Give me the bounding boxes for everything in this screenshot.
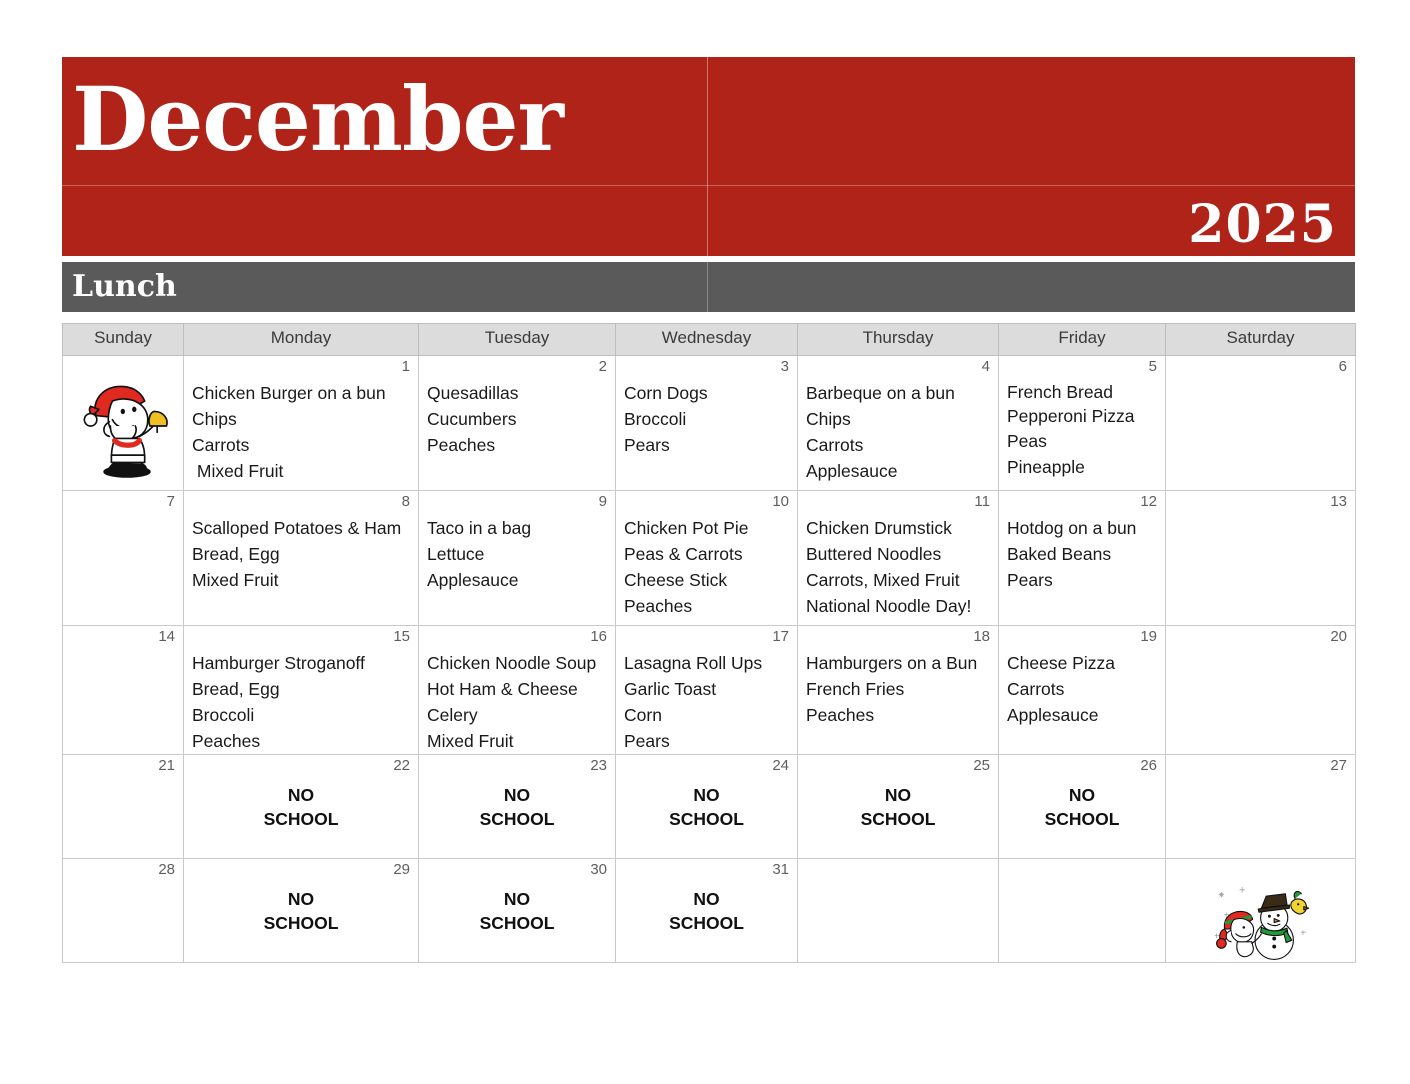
day-cell-content: 12Hotdog on a bunBaked BeansPears: [999, 491, 1165, 625]
menu-item: Cucumbers: [427, 406, 615, 432]
day-cell-content: 13: [1166, 491, 1355, 625]
calendar-day-cell-monday-8[interactable]: 8Scalloped Potatoes & HamBread, EggMixed…: [184, 491, 419, 626]
menu-item: Mixed Fruit: [192, 567, 418, 593]
day-number: 15: [393, 628, 410, 646]
day-cell-content: 20: [1166, 626, 1355, 754]
menu-item: Buttered Noodles: [806, 541, 998, 567]
calendar-week-row: 2829NOSCHOOL30NOSCHOOL31NOSCHOOL: [63, 859, 1356, 963]
menu-item-list: Corn DogsBroccoliPears: [616, 356, 797, 458]
menu-item: French Bread: [1007, 380, 1165, 404]
day-cell-content: 16Chicken Noodle SoupHot Ham & CheeseCel…: [419, 626, 615, 754]
weekday-header-thursday: Thursday: [798, 324, 999, 356]
menu-item-list: Scalloped Potatoes & HamBread, EggMixed …: [184, 491, 418, 593]
menu-item: Cheese Stick: [624, 567, 797, 593]
menu-item: French Fries: [806, 676, 998, 702]
day-number: 12: [1140, 493, 1157, 511]
calendar-week-row: 78Scalloped Potatoes & HamBread, EggMixe…: [63, 491, 1356, 626]
menu-item: Hot Ham & Cheese: [427, 676, 615, 702]
day-number: 2: [599, 358, 607, 376]
menu-item: Applesauce: [427, 567, 615, 593]
weekday-header-sunday: Sunday: [63, 324, 184, 356]
day-cell-content: 6: [1166, 356, 1355, 490]
menu-item: Garlic Toast: [624, 676, 797, 702]
menu-item: Celery: [427, 702, 615, 728]
weekday-header-monday: Monday: [184, 324, 419, 356]
no-school-note: NOSCHOOL: [419, 755, 615, 831]
calendar-day-cell-thursday-empty[interactable]: [798, 859, 999, 963]
day-number: 28: [158, 861, 175, 879]
calendar-day-cell-tuesday-9[interactable]: 9Taco in a bagLettuceApplesauce: [419, 491, 616, 626]
menu-item: National Noodle Day!: [806, 593, 998, 619]
calendar-day-cell-saturday-20[interactable]: 20: [1166, 626, 1356, 755]
menu-item: Pineapple: [1007, 454, 1165, 480]
banner-horizontal-divider: [62, 185, 1355, 186]
day-cell-content: 7: [63, 491, 183, 625]
meal-band-vertical-divider: [707, 262, 708, 312]
menu-item: Mixed Fruit: [427, 728, 615, 754]
menu-item: Mixed Fruit: [192, 458, 418, 484]
menu-item-list: Hamburgers on a BunFrench FriesPeaches: [798, 626, 998, 728]
no-school-line: SCHOOL: [616, 911, 797, 935]
no-school-note: NOSCHOOL: [184, 859, 418, 935]
day-number: 17: [772, 628, 789, 646]
no-school-line: NO: [184, 887, 418, 911]
calendar-day-cell-wednesday-24[interactable]: 24NOSCHOOL: [616, 755, 798, 859]
calendar-day-cell-friday-5[interactable]: 5French BreadPepperoni PizzaPeasPineappl…: [999, 356, 1166, 491]
menu-item: Baked Beans: [1007, 541, 1165, 567]
menu-item-list: Chicken Burger on a bunChipsCarrots Mixe…: [184, 356, 418, 484]
day-number: 25: [973, 757, 990, 775]
menu-item: Lettuce: [427, 541, 615, 567]
calendar-day-cell-friday-19[interactable]: 19Cheese PizzaCarrotsApplesauce: [999, 626, 1166, 755]
calendar-day-cell-tuesday-23[interactable]: 23NOSCHOOL: [419, 755, 616, 859]
santa-snoopy-clipart: [75, 374, 179, 478]
calendar-day-cell-wednesday-31[interactable]: 31NOSCHOOL: [616, 859, 798, 963]
day-number: 6: [1339, 358, 1347, 376]
menu-item: Carrots: [806, 432, 998, 458]
menu-item: Scalloped Potatoes & Ham: [192, 515, 418, 541]
month-banner: December 2025: [62, 57, 1355, 256]
calendar-day-cell-thursday-18[interactable]: 18Hamburgers on a BunFrench FriesPeaches: [798, 626, 999, 755]
menu-item: Peas & Carrots: [624, 541, 797, 567]
calendar-week-row: 1415Hamburger StroganoffBread, EggBrocco…: [63, 626, 1356, 755]
calendar-day-cell-friday-26[interactable]: 26NOSCHOOL: [999, 755, 1166, 859]
no-school-line: SCHOOL: [184, 807, 418, 831]
day-cell-content: 24NOSCHOOL: [616, 755, 797, 858]
calendar-day-cell-thursday-25[interactable]: 25NOSCHOOL: [798, 755, 999, 859]
no-school-line: SCHOOL: [798, 807, 998, 831]
menu-item: Carrots, Mixed Fruit: [806, 567, 998, 593]
calendar-body: 1Chicken Burger on a bunChipsCarrots Mix…: [63, 356, 1356, 963]
calendar-day-cell-monday-1[interactable]: 1Chicken Burger on a bunChipsCarrots Mix…: [184, 356, 419, 491]
menu-item: Pepperoni Pizza: [1007, 404, 1165, 428]
menu-item-list: Chicken Pot PiePeas & CarrotsCheese Stic…: [616, 491, 797, 619]
menu-item: Pears: [624, 432, 797, 458]
day-number: 23: [590, 757, 607, 775]
year-label: 2025: [1188, 197, 1337, 253]
day-number: 27: [1330, 757, 1347, 775]
menu-item: Bread, Egg: [192, 676, 418, 702]
day-number: 31: [772, 861, 789, 879]
no-school-line: NO: [184, 783, 418, 807]
calendar-day-cell-sunday-28[interactable]: 28: [63, 859, 184, 963]
menu-item: Cheese Pizza: [1007, 650, 1165, 676]
menu-item: Peaches: [806, 702, 998, 728]
no-school-line: NO: [798, 783, 998, 807]
calendar-day-cell-friday-empty[interactable]: [999, 859, 1166, 963]
day-number: 20: [1330, 628, 1347, 646]
calendar-day-cell-sunday-21[interactable]: 21: [63, 755, 184, 859]
weekday-header-wednesday: Wednesday: [616, 324, 798, 356]
calendar-day-cell-friday-12[interactable]: 12Hotdog on a bunBaked BeansPears: [999, 491, 1166, 626]
calendar-page: December 2025 Lunch Sunday Monday Tuesda…: [0, 0, 1410, 1084]
calendar-day-cell-saturday-6[interactable]: 6: [1166, 356, 1356, 491]
no-school-line: SCHOOL: [419, 911, 615, 935]
day-cell-content: [1166, 859, 1355, 962]
day-number: 14: [158, 628, 175, 646]
calendar-day-cell-sunday-14[interactable]: 14: [63, 626, 184, 755]
menu-item: Hamburger Stroganoff: [192, 650, 418, 676]
no-school-note: NOSCHOOL: [616, 859, 797, 935]
menu-item: Chicken Noodle Soup: [427, 650, 615, 676]
day-cell-content: 9Taco in a bagLettuceApplesauce: [419, 491, 615, 625]
day-number: 29: [393, 861, 410, 879]
menu-item-list: Lasagna Roll UpsGarlic ToastCornPears: [616, 626, 797, 754]
weekday-header-row: Sunday Monday Tuesday Wednesday Thursday…: [63, 324, 1356, 356]
calendar-day-cell-wednesday-10[interactable]: 10Chicken Pot PiePeas & CarrotsCheese St…: [616, 491, 798, 626]
day-cell-content: 5French BreadPepperoni PizzaPeasPineappl…: [999, 356, 1165, 490]
calendar-day-cell-saturday-13[interactable]: 13: [1166, 491, 1356, 626]
no-school-line: NO: [616, 887, 797, 911]
menu-item: Broccoli: [192, 702, 418, 728]
calendar-day-cell-sunday-7[interactable]: 7: [63, 491, 184, 626]
day-number: 30: [590, 861, 607, 879]
no-school-line: NO: [419, 887, 615, 911]
menu-item: Chips: [192, 406, 418, 432]
day-number: 9: [599, 493, 607, 511]
weekday-header-tuesday: Tuesday: [419, 324, 616, 356]
day-cell-content: 27: [1166, 755, 1355, 858]
calendar-day-cell-thursday-11[interactable]: 11Chicken DrumstickButtered NoodlesCarro…: [798, 491, 999, 626]
day-cell-content: [63, 356, 183, 490]
day-number: 18: [973, 628, 990, 646]
calendar-day-cell-tuesday-16[interactable]: 16Chicken Noodle SoupHot Ham & CheeseCel…: [419, 626, 616, 755]
menu-item-list: French BreadPepperoni PizzaPeasPineapple: [999, 356, 1165, 480]
no-school-line: SCHOOL: [184, 911, 418, 935]
menu-item: Pears: [624, 728, 797, 754]
day-cell-content: 17Lasagna Roll UpsGarlic ToastCornPears: [616, 626, 797, 754]
day-number: 7: [167, 493, 175, 511]
day-cell-content: 4Barbeque on a bunChipsCarrotsApplesauce: [798, 356, 998, 490]
day-cell-content: 2QuesadillasCucumbersPeaches: [419, 356, 615, 490]
day-number: 19: [1140, 628, 1157, 646]
menu-item: Taco in a bag: [427, 515, 615, 541]
day-cell-content: 28: [63, 859, 183, 962]
calendar-day-cell-wednesday-17[interactable]: 17Lasagna Roll UpsGarlic ToastCornPears: [616, 626, 798, 755]
menu-item: Hamburgers on a Bun: [806, 650, 998, 676]
no-school-note: NOSCHOOL: [184, 755, 418, 831]
day-cell-content: 23NOSCHOOL: [419, 755, 615, 858]
no-school-line: NO: [419, 783, 615, 807]
calendar-day-cell-tuesday-30[interactable]: 30NOSCHOOL: [419, 859, 616, 963]
calendar-day-cell-saturday-27[interactable]: 27: [1166, 755, 1356, 859]
day-cell-content: 14: [63, 626, 183, 754]
menu-item-list: Barbeque on a bunChipsCarrotsApplesauce: [798, 356, 998, 484]
page-title: December: [72, 71, 563, 167]
day-cell-content: 19Cheese PizzaCarrotsApplesauce: [999, 626, 1165, 754]
no-school-line: SCHOOL: [616, 807, 797, 831]
day-cell-content: 25NOSCHOOL: [798, 755, 998, 858]
day-cell-content: 8Scalloped Potatoes & HamBread, EggMixed…: [184, 491, 418, 625]
menu-item: Applesauce: [1007, 702, 1165, 728]
calendar-day-cell-sunday-empty[interactable]: [63, 356, 184, 491]
menu-item: Applesauce: [806, 458, 998, 484]
no-school-line: SCHOOL: [419, 807, 615, 831]
day-cell-content: 29NOSCHOOL: [184, 859, 418, 962]
calendar-day-cell-monday-15[interactable]: 15Hamburger StroganoffBread, EggBroccoli…: [184, 626, 419, 755]
no-school-note: NOSCHOOL: [419, 859, 615, 935]
menu-item: Peaches: [624, 593, 797, 619]
calendar-week-row: 2122NOSCHOOL23NOSCHOOL24NOSCHOOL25NOSCHO…: [63, 755, 1356, 859]
menu-item-list: QuesadillasCucumbersPeaches: [419, 356, 615, 458]
day-number: 3: [781, 358, 789, 376]
menu-item: Chicken Burger on a bun: [192, 380, 418, 406]
day-number: 1: [402, 358, 410, 376]
weekday-header-saturday: Saturday: [1166, 324, 1356, 356]
day-cell-content: 18Hamburgers on a BunFrench FriesPeaches: [798, 626, 998, 754]
day-cell-content: 3Corn DogsBroccoliPears: [616, 356, 797, 490]
day-number: 4: [982, 358, 990, 376]
day-number: 16: [590, 628, 607, 646]
menu-item: Chicken Drumstick: [806, 515, 998, 541]
no-school-line: NO: [999, 783, 1165, 807]
no-school-note: NOSCHOOL: [616, 755, 797, 831]
day-cell-content: 1Chicken Burger on a bunChipsCarrots Mix…: [184, 356, 418, 490]
day-cell-content: [999, 859, 1165, 962]
day-number: 22: [393, 757, 410, 775]
menu-item: Peaches: [427, 432, 615, 458]
day-number: 21: [158, 757, 175, 775]
menu-item: Pears: [1007, 567, 1165, 593]
day-number: 26: [1140, 757, 1157, 775]
day-number: 5: [1149, 358, 1157, 376]
menu-item-list: Taco in a bagLettuceApplesauce: [419, 491, 615, 593]
day-number: 8: [402, 493, 410, 511]
day-number: 10: [772, 493, 789, 511]
snowmen-clipart: [1204, 881, 1322, 961]
day-cell-content: 15Hamburger StroganoffBread, EggBroccoli…: [184, 626, 418, 754]
day-number: 24: [772, 757, 789, 775]
calendar-grid: Sunday Monday Tuesday Wednesday Thursday…: [62, 323, 1356, 963]
menu-item: Peas: [1007, 428, 1165, 454]
day-cell-content: 26NOSCHOOL: [999, 755, 1165, 858]
calendar-day-cell-monday-29[interactable]: 29NOSCHOOL: [184, 859, 419, 963]
calendar-day-cell-wednesday-3[interactable]: 3Corn DogsBroccoliPears: [616, 356, 798, 491]
day-cell-content: 11Chicken DrumstickButtered NoodlesCarro…: [798, 491, 998, 625]
menu-item-list: Hamburger StroganoffBread, EggBroccoliPe…: [184, 626, 418, 754]
menu-item: Carrots: [192, 432, 418, 458]
menu-item: Bread, Egg: [192, 541, 418, 567]
menu-item: Chips: [806, 406, 998, 432]
menu-item: Barbeque on a bun: [806, 380, 998, 406]
menu-item: Chicken Pot Pie: [624, 515, 797, 541]
day-cell-content: 21: [63, 755, 183, 858]
day-number: 11: [974, 493, 990, 511]
banner-vertical-divider: [707, 57, 708, 256]
weekday-header-friday: Friday: [999, 324, 1166, 356]
calendar-day-cell-monday-22[interactable]: 22NOSCHOOL: [184, 755, 419, 859]
calendar-day-cell-saturday-empty[interactable]: [1166, 859, 1356, 963]
calendar-week-row: 1Chicken Burger on a bunChipsCarrots Mix…: [63, 356, 1356, 491]
menu-item: Carrots: [1007, 676, 1165, 702]
day-number: 13: [1330, 493, 1347, 511]
calendar-day-cell-tuesday-2[interactable]: 2QuesadillasCucumbersPeaches: [419, 356, 616, 491]
day-cell-content: [798, 859, 998, 962]
menu-item: Broccoli: [624, 406, 797, 432]
meal-type-label: Lunch: [72, 266, 177, 308]
menu-item: Corn: [624, 702, 797, 728]
no-school-note: NOSCHOOL: [798, 755, 998, 831]
day-cell-content: 31NOSCHOOL: [616, 859, 797, 962]
day-cell-content: 30NOSCHOOL: [419, 859, 615, 962]
menu-item: Peaches: [192, 728, 418, 754]
menu-item: Hotdog on a bun: [1007, 515, 1165, 541]
meal-band: Lunch: [62, 262, 1355, 312]
no-school-line: NO: [616, 783, 797, 807]
menu-item: Lasagna Roll Ups: [624, 650, 797, 676]
day-cell-content: 22NOSCHOOL: [184, 755, 418, 858]
menu-item-list: Chicken Noodle SoupHot Ham & CheeseCeler…: [419, 626, 615, 754]
no-school-line: SCHOOL: [999, 807, 1165, 831]
calendar-day-cell-thursday-4[interactable]: 4Barbeque on a bunChipsCarrotsApplesauce: [798, 356, 999, 491]
day-cell-content: 10Chicken Pot PiePeas & CarrotsCheese St…: [616, 491, 797, 625]
menu-item-list: Chicken DrumstickButtered NoodlesCarrots…: [798, 491, 998, 619]
menu-item: Corn Dogs: [624, 380, 797, 406]
menu-item: Quesadillas: [427, 380, 615, 406]
